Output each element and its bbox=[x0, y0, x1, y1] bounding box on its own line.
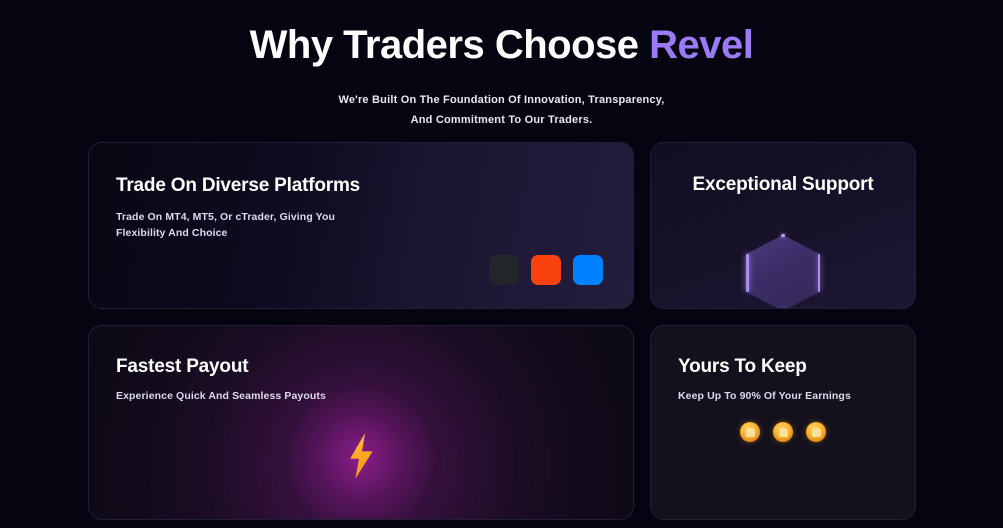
card-description-line-1: Trade On MT4, MT5, Or cTrader, Giving Yo… bbox=[116, 211, 335, 223]
card-heading: Trade On Diverse Platforms bbox=[116, 175, 360, 197]
coin-icon bbox=[740, 422, 760, 442]
card-fastest-payout[interactable]: Fastest Payout Experience Quick And Seam… bbox=[88, 325, 634, 520]
page-subtitle: We're Built On The Foundation Of Innovat… bbox=[0, 90, 1003, 131]
page-title: Why Traders Choose Revel bbox=[0, 22, 1003, 68]
platform-square-blue-icon[interactable] bbox=[573, 255, 603, 285]
card-description: Keep Up To 90% Of Your Earnings bbox=[678, 388, 851, 404]
page-title-main: Why Traders Choose bbox=[250, 23, 649, 67]
platform-square-dark-icon[interactable] bbox=[489, 255, 519, 285]
platform-square-orange-icon[interactable] bbox=[531, 255, 561, 285]
card-description: Trade On MT4, MT5, Or cTrader, Giving Yo… bbox=[116, 209, 335, 242]
hexagon-icon bbox=[746, 235, 820, 309]
coin-group bbox=[740, 422, 826, 442]
hexagon-vertex-top bbox=[781, 234, 785, 237]
hexagon-edge-right bbox=[818, 254, 821, 292]
hexagon-edge-left bbox=[746, 254, 749, 292]
coin-icon bbox=[773, 422, 793, 442]
platform-logo-group bbox=[489, 255, 603, 285]
lightning-bolt-icon bbox=[326, 421, 396, 491]
card-heading: Yours To Keep bbox=[678, 356, 807, 378]
card-exceptional-support[interactable]: Exceptional Support bbox=[650, 142, 916, 309]
feature-card-grid: Trade On Diverse Platforms Trade On MT4,… bbox=[88, 142, 916, 528]
page-subtitle-line-1: We're Built On The Foundation Of Innovat… bbox=[338, 94, 664, 106]
card-heading: Fastest Payout bbox=[116, 356, 248, 378]
section-header: Why Traders Choose Revel We're Built On … bbox=[0, 0, 1003, 131]
hexagon-shape bbox=[746, 235, 820, 309]
card-description: Experience Quick And Seamless Payouts bbox=[116, 388, 326, 404]
card-yours-to-keep[interactable]: Yours To Keep Keep Up To 90% Of Your Ear… bbox=[650, 325, 916, 520]
page-subtitle-line-2: And Commitment To Our Traders. bbox=[411, 114, 593, 126]
card-description-line-2: Flexibility And Choice bbox=[116, 227, 228, 239]
coin-icon bbox=[806, 422, 826, 442]
card-trade-on-diverse-platforms[interactable]: Trade On Diverse Platforms Trade On MT4,… bbox=[88, 142, 634, 309]
card-heading: Exceptional Support bbox=[651, 173, 915, 197]
why-traders-choose-section: Why Traders Choose Revel We're Built On … bbox=[0, 0, 1003, 528]
page-title-accent: Revel bbox=[649, 23, 753, 67]
